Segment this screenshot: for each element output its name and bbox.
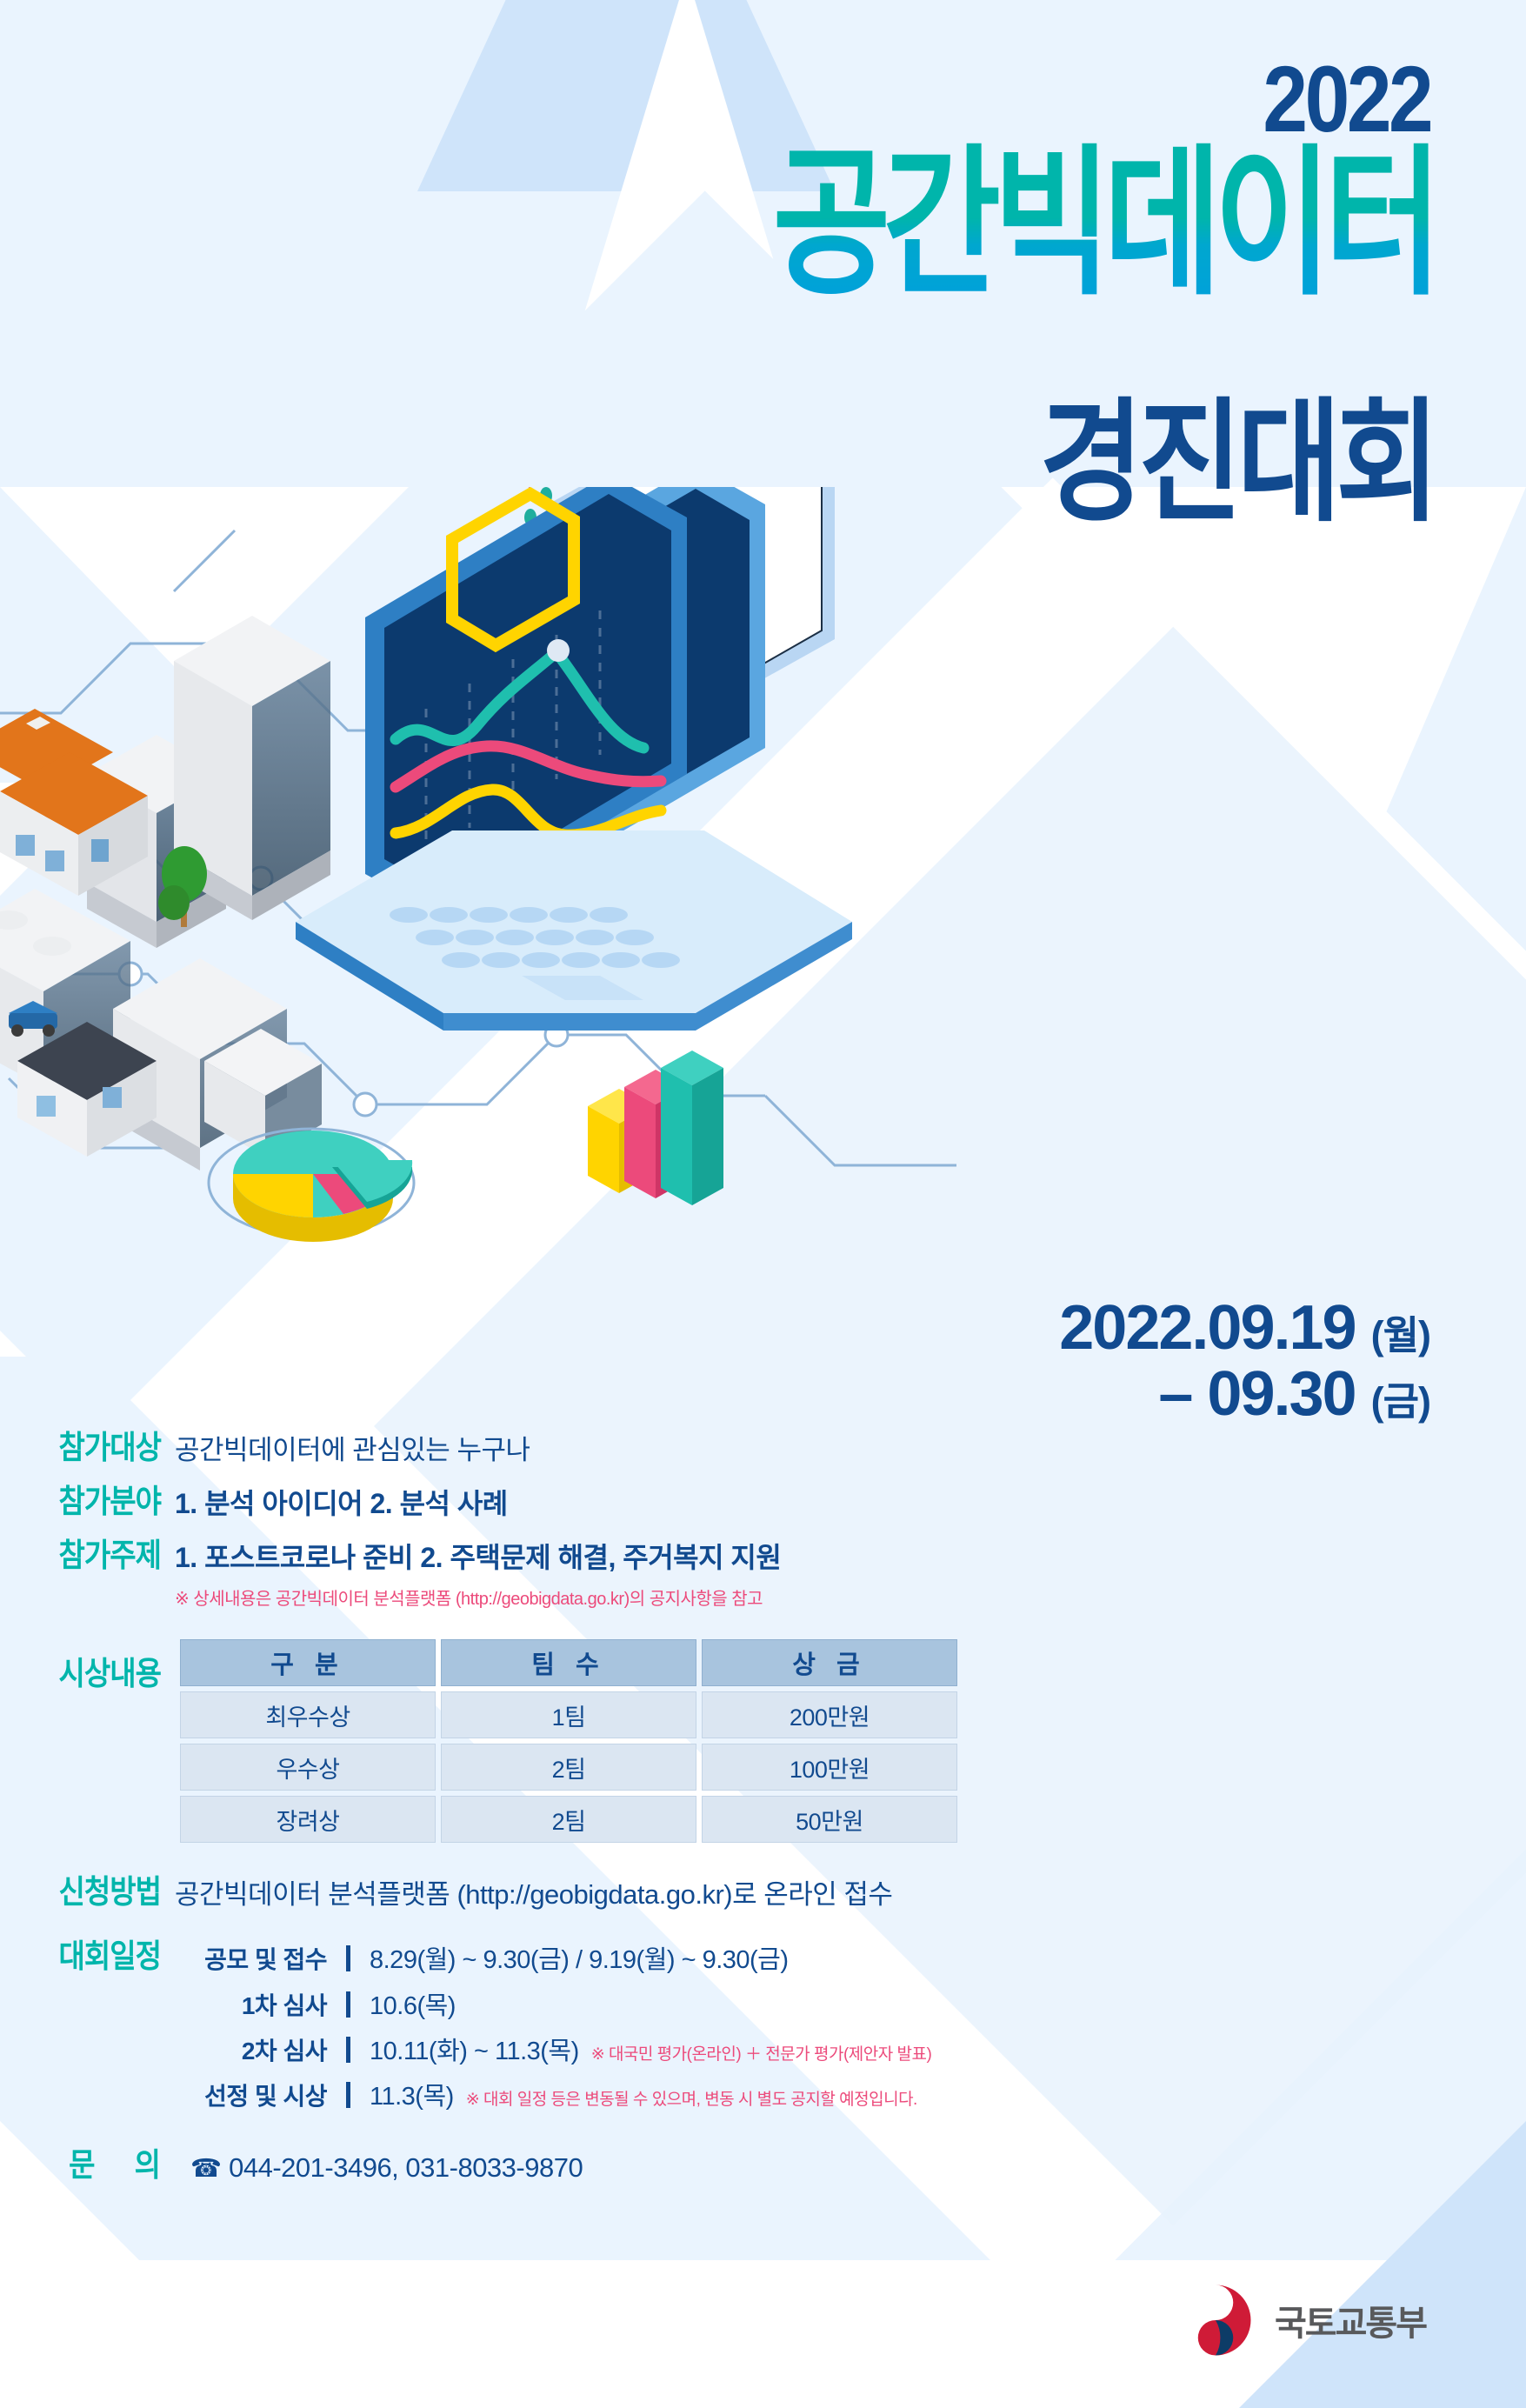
prize-cell-teams: 1팀 [441, 1691, 696, 1738]
schedule-value-4: 11.3(목) [370, 2076, 454, 2112]
info-row-target: 참가대상 공간빅데이터에 관심있는 누구나 [0, 1426, 1526, 1468]
schedule-row-2: 1차 심사 10.6(목) [0, 1985, 1526, 2022]
value-contact: 044-201-3496, 031-8033-9870 [229, 2152, 583, 2184]
schedule-section: 대회일정 공모 및 접수 8.29(월) ~ 9.30(금) / 9.19(월)… [0, 1935, 1526, 2112]
label-apply: 신청방법 [0, 1865, 161, 1912]
table-row: 장려상 2팀 50만원 [180, 1796, 957, 1843]
schedule-value-1: 8.29(월) ~ 9.30(금) / 9.19(월) ~ 9.30(금) [370, 1939, 789, 1976]
taegeuk-logo-icon [1176, 2280, 1256, 2360]
schedule-key-4: 선정 및 시상 [175, 2078, 327, 2112]
topic-note: ※ 상세내용은 공간빅데이터 분석플랫폼 (http://geobigdata.… [175, 1584, 1526, 1610]
schedule-divider [346, 2082, 350, 2108]
prize-cell-category: 우수상 [180, 1744, 436, 1791]
iso-bar-chart [588, 1051, 723, 1205]
ministry-logo-block: 국토교통부 [1176, 2280, 1426, 2360]
schedule-divider [346, 1991, 350, 2018]
prize-col-category: 구 분 [180, 1639, 436, 1686]
table-row: 우수상 2팀 100만원 [180, 1744, 957, 1791]
label-prize: 시상내용 [0, 1634, 161, 1694]
schedule-key-2: 1차 심사 [175, 1987, 327, 2022]
label-contact: 문 의 [0, 2138, 177, 2185]
prize-cell-amount: 50만원 [702, 1796, 957, 1843]
event-date-end-day: (금) [1371, 1379, 1430, 1424]
schedule-value-3: 10.11(화) ~ 11.3(목) [370, 2031, 579, 2067]
prize-section: 시상내용 구 분 팀 수 상 금 최우수상 1팀 200만원 [0, 1634, 1526, 1848]
poster-year: 2022 [1263, 52, 1430, 146]
event-date-end: – 09.30 [1158, 1359, 1355, 1429]
prize-col-amount: 상 금 [702, 1639, 957, 1686]
info-row-topic: 참가주제 1. 포스트코로나 준비 2. 주택문제 해결, 주거복지 지원 [0, 1534, 1526, 1576]
prize-cell-amount: 200만원 [702, 1691, 957, 1738]
schedule-key-3: 2차 심사 [175, 2032, 327, 2067]
schedule-note-4: ※ 대회 일정 등은 변동될 수 있으며, 변동 시 별도 공지할 예정입니다. [466, 2086, 917, 2110]
contact-row: 문 의 ☎ 044-201-3496, 031-8033-9870 [0, 2144, 1526, 2185]
phone-icon: ☎ [190, 2153, 222, 2184]
event-date-start-day: (월) [1371, 1313, 1430, 1357]
iso-pie-chart [209, 1129, 414, 1242]
schedule-value-2: 10.6(목) [370, 1985, 456, 2022]
info-row-field: 참가분야 1. 분석 아이디어 2. 분석 사례 [0, 1480, 1526, 1522]
schedule-divider [346, 1945, 350, 1971]
schedule-note-3: ※ 대국민 평가(온라인) ＋ 전문가 평가(제안자 발표) [591, 2041, 932, 2064]
poster-canvas: 2022 공간빅데이터 경진대회 [0, 0, 1526, 2408]
table-row: 최우수상 1팀 200만원 [180, 1691, 957, 1738]
label-field: 참가분야 [0, 1475, 161, 1522]
isometric-city-illustration [0, 487, 1087, 1244]
schedule-key-1: 공모 및 접수 [175, 1941, 327, 1976]
value-apply: 공간빅데이터 분석플랫폼 (http://geobigdata.go.kr)로 … [175, 1872, 892, 1911]
poster-title-sub: 경진대회 [1040, 396, 1435, 529]
prize-table: 구 분 팀 수 상 금 최우수상 1팀 200만원 우수상 2팀 100만원 [175, 1634, 963, 1848]
ministry-name: 국토교통부 [1275, 2295, 1426, 2345]
house-orange-roof [0, 709, 148, 896]
label-topic: 참가주제 [0, 1529, 161, 1576]
value-field: 1. 분석 아이디어 2. 분석 사례 [175, 1482, 508, 1522]
event-date-start: 2022.09.19 [1059, 1293, 1355, 1363]
info-section: 참가대상 공간빅데이터에 관심있는 누구나 참가분야 1. 분석 아이디어 2.… [0, 1426, 1526, 2185]
prize-table-header-row: 구 분 팀 수 상 금 [180, 1639, 957, 1686]
schedule-row-3: 2차 심사 10.11(화) ~ 11.3(목) ※ 대국민 평가(온라인) ＋… [0, 2031, 1526, 2067]
prize-cell-amount: 100만원 [702, 1744, 957, 1791]
prize-cell-teams: 2팀 [441, 1744, 696, 1791]
event-date-block: 2022.09.19 (월) – 09.30 (금) [1059, 1296, 1430, 1427]
prize-col-teams: 팀 수 [441, 1639, 696, 1686]
prize-cell-category: 장려상 [180, 1796, 436, 1843]
prize-cell-teams: 2팀 [441, 1796, 696, 1843]
prize-cell-category: 최우수상 [180, 1691, 436, 1738]
schedule-row-4: 선정 및 시상 11.3(목) ※ 대회 일정 등은 변동될 수 있으며, 변동… [0, 2076, 1526, 2112]
value-topic: 1. 포스트코로나 준비 2. 주택문제 해결, 주거복지 지원 [175, 1536, 781, 1576]
poster-title-main: 공간빅데이터 [773, 139, 1435, 310]
schedule-row-1: 대회일정 공모 및 접수 8.29(월) ~ 9.30(금) / 9.19(월)… [0, 1935, 1526, 1977]
info-row-apply: 신청방법 공간빅데이터 분석플랫폼 (http://geobigdata.go.… [0, 1871, 1526, 1912]
schedule-divider [346, 2037, 350, 2063]
value-target: 공간빅데이터에 관심있는 누구나 [175, 1428, 530, 1467]
label-target: 참가대상 [0, 1421, 161, 1468]
label-schedule: 대회일정 [0, 1930, 161, 1977]
